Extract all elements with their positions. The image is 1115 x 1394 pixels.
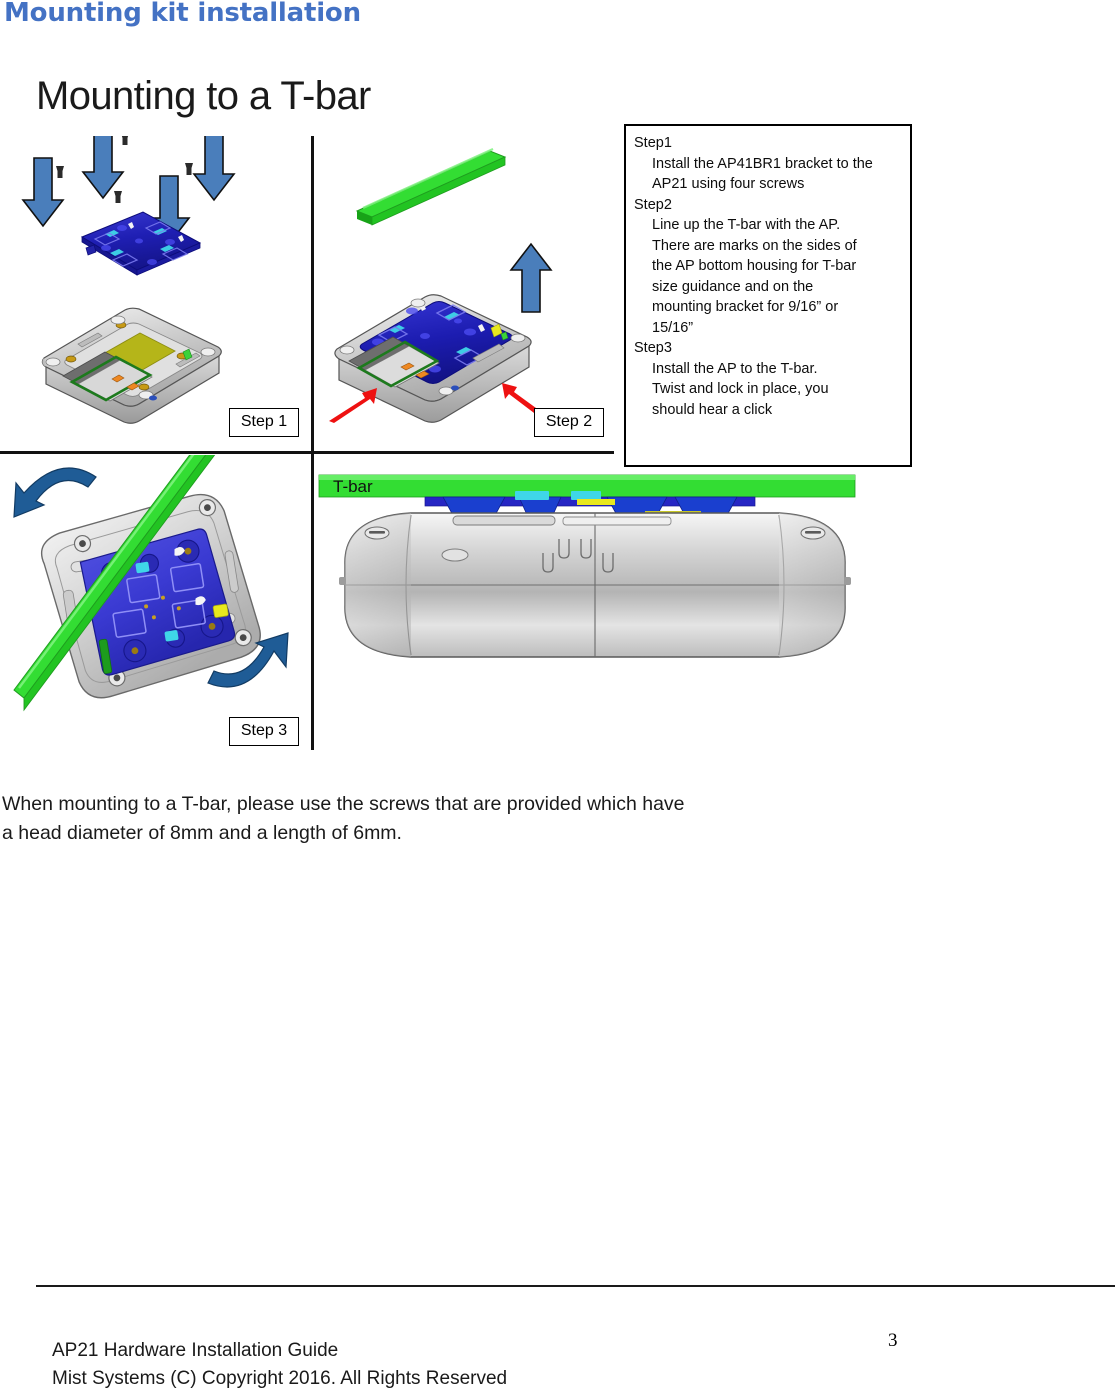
body-line: a head diameter of 8mm and a length of 6… (2, 819, 702, 848)
figure-step3-illustration (0, 455, 311, 750)
step1-caption: Step 1 (229, 408, 299, 437)
t-bar-label: T-bar (333, 477, 373, 496)
instruction-line: AP21 using four screws (652, 174, 902, 195)
figure-title: Mounting to a T-bar (36, 74, 371, 119)
instruction-line: 15/16” (652, 318, 902, 339)
instruction-line: the AP bottom housing for T-bar (652, 256, 902, 277)
figure-horizontal-divider (0, 451, 614, 454)
t-bar-rail (357, 149, 505, 225)
instruction-line: There are marks on the sides of (652, 236, 902, 257)
step3-caption: Step 3 (229, 717, 299, 746)
screw-icon (185, 163, 193, 175)
step2-caption: Step 2 (534, 408, 604, 437)
instruction-step1-label: Step1 (634, 133, 902, 154)
ap-body-side-view (339, 513, 851, 657)
down-arrow-icon (83, 136, 123, 198)
body-paragraph: When mounting to a T-bar, please use the… (2, 790, 702, 848)
page-title: Mounting kit installation (4, 0, 361, 28)
footer-line: Mist Systems (C) Copyright 2016. All Rig… (52, 1365, 507, 1393)
instruction-step2-body: Line up the T-bar with the AP. There are… (634, 215, 902, 338)
footer-line: AP21 Hardware Installation Guide (52, 1337, 507, 1365)
footer-divider (36, 1285, 1115, 1287)
figure-side-view-illustration: T-bar (315, 455, 875, 750)
instruction-line: size guidance and on the (652, 277, 902, 298)
ap-housing (42, 308, 221, 423)
figure-step1-illustration (0, 136, 311, 451)
instruction-step2-label: Step2 (634, 195, 902, 216)
body-line: When mounting to a T-bar, please use the… (2, 790, 702, 819)
down-arrow-icon (194, 136, 234, 200)
screw-icon (56, 166, 64, 178)
instruction-step3-body: Install the AP to the T-bar. Twist and l… (634, 359, 902, 421)
instruction-step1-body: Install the AP41BR1 bracket to the AP21 … (634, 154, 902, 195)
red-arrow-icon (329, 388, 377, 423)
instruction-line: Install the AP41BR1 bracket to the (652, 154, 902, 175)
footer-text: AP21 Hardware Installation Guide Mist Sy… (52, 1337, 507, 1393)
up-arrow-icon (511, 244, 551, 312)
instruction-line: mounting bracket for 9/16” or (652, 297, 902, 318)
rotate-arrow-icon (14, 468, 96, 517)
screw-icon (114, 191, 122, 203)
instruction-line: Twist and lock in place, you (652, 379, 902, 400)
document-page: Mounting kit installation Mounting to a … (0, 0, 1115, 1394)
figure-step2-illustration (315, 136, 614, 451)
instruction-step3-label: Step3 (634, 338, 902, 359)
screw-icon (121, 136, 129, 145)
instruction-line: should hear a click (652, 400, 902, 421)
instruction-panel: Step1 Install the AP41BR1 bracket to the… (624, 124, 912, 467)
ap-housing-with-bracket (335, 295, 531, 423)
page-number: 3 (888, 1330, 898, 1352)
figure-vertical-divider (311, 136, 314, 750)
instruction-line: Line up the T-bar with the AP. (652, 215, 902, 236)
instruction-line: Install the AP to the T-bar. (652, 359, 902, 380)
